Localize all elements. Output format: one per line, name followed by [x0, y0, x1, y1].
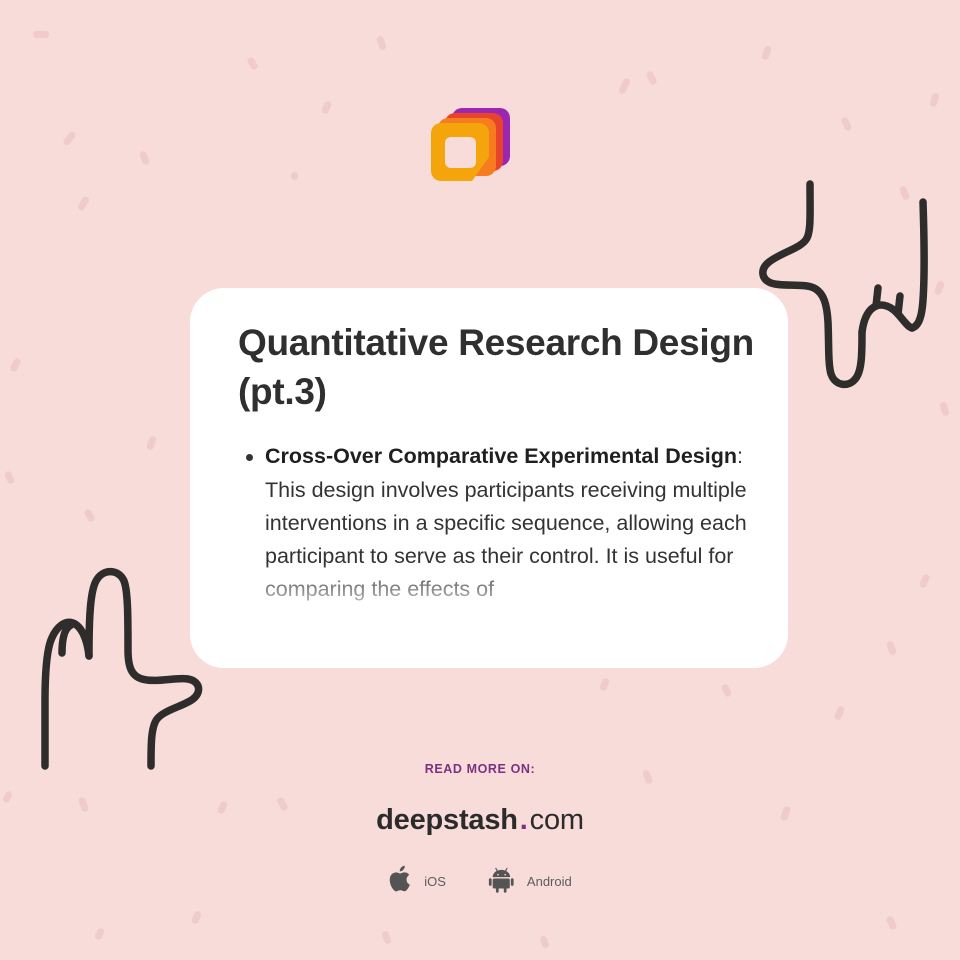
deepstash-wordmark[interactable]: deepstash.com — [0, 804, 960, 837]
read-more-label: READ MORE ON: — [0, 762, 960, 776]
android-icon — [488, 864, 518, 899]
confetti-speck — [840, 116, 852, 132]
hand-pointing-up-icon — [18, 558, 218, 793]
confetti-speck — [94, 927, 106, 941]
confetti-speck — [146, 435, 157, 451]
confetti-speck — [939, 401, 950, 416]
confetti-speck — [381, 930, 392, 945]
confetti-speck — [885, 915, 897, 931]
wordmark-tld: com — [530, 804, 584, 836]
footer: READ MORE ON: deepstash.com iOS — [0, 762, 960, 900]
confetti-speck — [376, 35, 387, 50]
deepstash-share-card: Quantitative Research Design (pt.3) Cros… — [0, 0, 960, 960]
card-body-list: Cross-Over Comparative Experimental Desi… — [238, 440, 758, 606]
confetti-speck — [929, 92, 940, 107]
confetti-speck — [934, 280, 946, 296]
confetti-speck — [321, 100, 333, 115]
confetti-speck — [191, 910, 202, 925]
deepstash-logo[interactable] — [428, 102, 516, 190]
confetti-speck — [834, 705, 846, 721]
confetti-speck — [62, 130, 77, 146]
confetti-speck — [291, 172, 298, 180]
confetti-speck — [83, 508, 95, 523]
store-label-android: Android — [527, 874, 572, 889]
apple-icon — [388, 863, 415, 900]
confetti-speck — [918, 573, 930, 589]
idea-card[interactable]: Quantitative Research Design (pt.3) Cros… — [190, 288, 788, 668]
store-badge-android[interactable]: Android — [488, 864, 572, 899]
list-item-separator: : — [737, 444, 743, 468]
confetti-speck — [539, 935, 550, 949]
confetti-speck — [761, 45, 772, 61]
confetti-speck — [645, 70, 657, 86]
list-item-text: This design involves participants receiv… — [265, 478, 747, 602]
confetti-speck — [9, 357, 22, 373]
list-item-lead: Cross-Over Comparative Experimental Desi… — [265, 444, 737, 468]
wordmark-dot: . — [518, 804, 530, 836]
store-badges: iOS Android — [0, 863, 960, 900]
card-title: Quantitative Research Design (pt.3) — [238, 318, 758, 416]
confetti-speck — [618, 77, 631, 94]
confetti-speck — [721, 683, 733, 698]
confetti-speck — [599, 677, 610, 692]
wordmark-name: deepstash — [376, 804, 518, 836]
confetti-speck — [886, 640, 897, 656]
confetti-speck — [77, 195, 91, 211]
confetti-speck — [33, 31, 49, 38]
confetti-speck — [899, 185, 910, 201]
confetti-speck — [246, 56, 259, 71]
list-item: Cross-Over Comparative Experimental Desi… — [238, 440, 758, 606]
confetti-speck — [4, 470, 16, 485]
card-content: Quantitative Research Design (pt.3) Cros… — [238, 318, 758, 606]
store-badge-ios[interactable]: iOS — [388, 863, 446, 900]
store-label-ios: iOS — [424, 874, 446, 889]
confetti-speck — [139, 150, 151, 166]
